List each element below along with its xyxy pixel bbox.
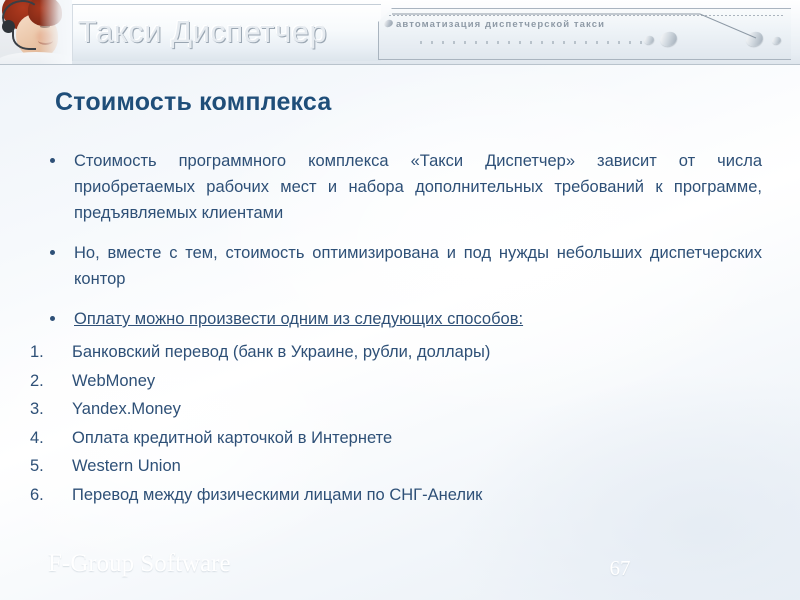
- list-item: 2. WebMoney: [30, 367, 760, 396]
- footer-brand: F-Group Software: [48, 550, 231, 578]
- list-item: 3. Yandex.Money: [30, 395, 760, 424]
- decorative-dot-row: [420, 41, 650, 44]
- list-item: 6. Перевод между физическими лицами по С…: [30, 481, 760, 510]
- list-item-label: Перевод между физическими лицами по СНГ-…: [72, 481, 482, 510]
- header-tagline: автоматизация диспетчерской такси: [396, 19, 605, 30]
- list-item-number: 3.: [30, 395, 64, 424]
- header-banner: Такси Диспетчер автоматизация диспетчерс…: [0, 0, 800, 65]
- list-item-label: Банковский перевод (банк в Украине, рубл…: [72, 338, 490, 367]
- list-item: Оплату можно произвести одним из следующ…: [42, 306, 762, 332]
- list-item-label: WebMoney: [72, 367, 155, 396]
- bullet-dot-icon: [50, 158, 55, 163]
- tagline-panel-dashed-line: [389, 15, 785, 16]
- presentation-slide: Такси Диспетчер автоматизация диспетчерс…: [0, 0, 800, 600]
- brand-title: Такси Диспетчер: [78, 14, 327, 50]
- list-item: 1. Банковский перевод (банк в Украине, р…: [30, 338, 760, 367]
- list-item-number: 1.: [30, 338, 64, 367]
- bullet-list: Стоимость программного комплекса «Такси …: [42, 148, 762, 332]
- page-title: Стоимость комплекса: [55, 88, 331, 117]
- tagline-panel: [378, 8, 791, 60]
- list-item-number: 4.: [30, 424, 64, 453]
- bullet-text: Стоимость программного комплекса «Такси …: [74, 152, 762, 222]
- operator-headset-photo: [0, 0, 72, 64]
- list-item: Стоимость программного комплекса «Такси …: [42, 148, 762, 226]
- list-item-number: 2.: [30, 367, 64, 396]
- photo-fade-overlay: [0, 0, 72, 64]
- list-item-label: Western Union: [72, 452, 181, 481]
- page-number: 67: [600, 556, 640, 581]
- list-item-label: Yandex.Money: [72, 395, 181, 424]
- bullet-text-underlined: Оплату можно произвести одним из следующ…: [74, 310, 523, 328]
- list-item: 5. Western Union: [30, 452, 760, 481]
- bullet-text: Но, вместе с тем, стоимость оптимизирова…: [74, 244, 762, 288]
- bullet-dot-icon: [50, 316, 55, 321]
- list-item: Но, вместе с тем, стоимость оптимизирова…: [42, 240, 762, 292]
- list-item-label: Оплата кредитной карточкой в Интернете: [72, 424, 392, 453]
- list-item-number: 5.: [30, 452, 64, 481]
- bullet-dot-icon: [50, 250, 55, 255]
- list-item: 4. Оплата кредитной карточкой в Интернет…: [30, 424, 760, 453]
- payment-methods-list: 1. Банковский перевод (банк в Украине, р…: [30, 338, 760, 509]
- list-item-number: 6.: [30, 481, 64, 510]
